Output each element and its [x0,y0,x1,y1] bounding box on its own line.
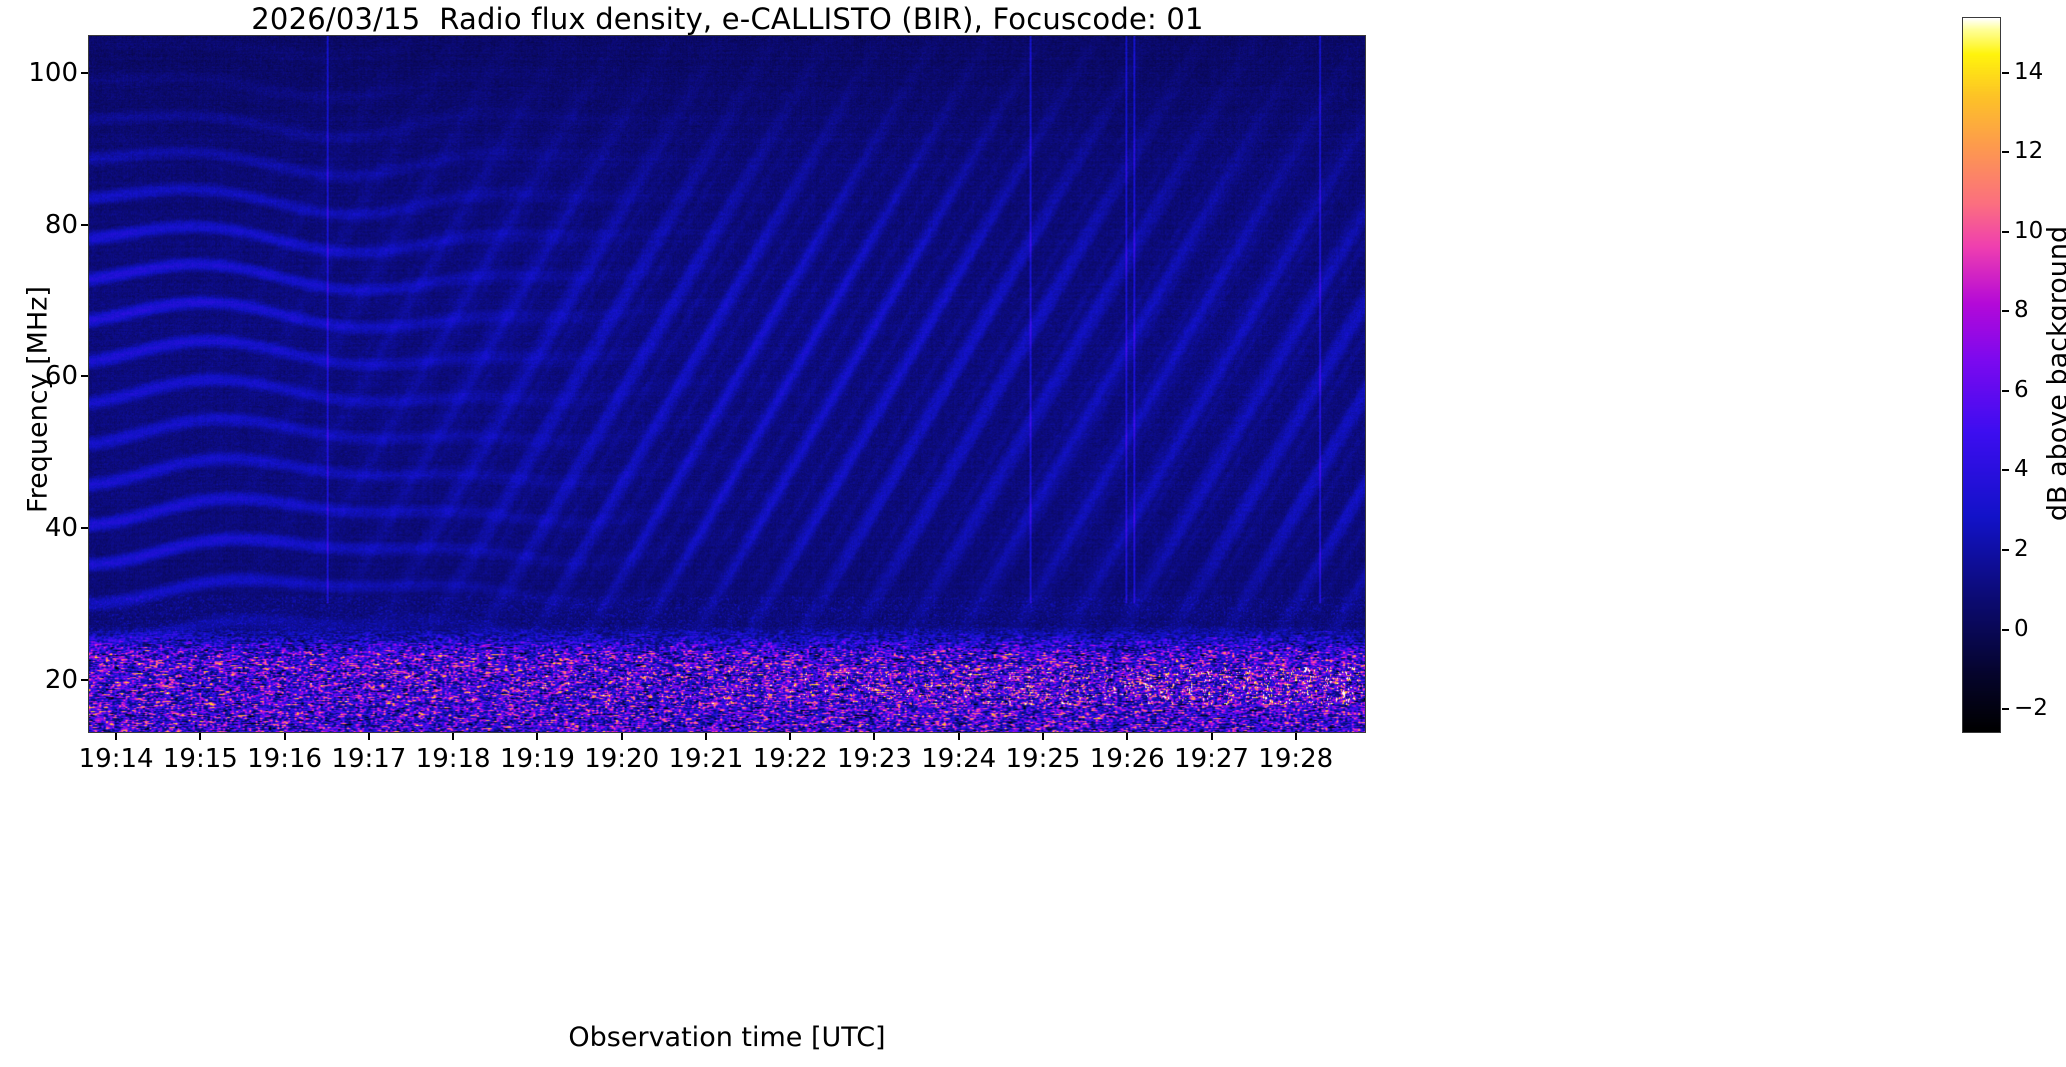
colorbar-label: dB above background [2043,16,2066,732]
colorbar-tick-mark [2002,151,2009,153]
spectrogram-figure: 2026/03/15 Radio flux density, e-CALLIST… [0,0,2066,1067]
x-tick-mark [705,733,707,740]
x-tick-mark [789,733,791,740]
y-tick-mark [81,72,88,74]
x-axis-label: Observation time [UTC] [88,1022,1366,1053]
x-tick-mark [1126,733,1128,740]
x-tick-mark [115,733,117,740]
colorbar-gradient [1963,18,2000,732]
colorbar-tick-mark [2002,231,2009,233]
y-tick-mark [81,527,88,529]
y-tick-label: 100 [16,60,78,86]
x-tick-label: 19:28 [1226,745,1366,773]
y-tick-mark [81,224,88,226]
x-tick-mark [536,733,538,740]
x-tick-mark [284,733,286,740]
x-tick-mark [1295,733,1297,740]
y-tick-mark [81,679,88,681]
colorbar-tick-mark [2002,549,2009,551]
colorbar-tick-mark [2002,310,2009,312]
colorbar-tick-mark [2002,390,2009,392]
x-tick-mark [1042,733,1044,740]
x-tick-mark [958,733,960,740]
colorbar-tick-mark [2002,72,2009,74]
colorbar[interactable] [1962,17,2001,733]
y-tick-label: 80 [16,212,78,238]
page-title: 2026/03/15 Radio flux density, e-CALLIST… [0,2,1455,36]
x-tick-mark [873,733,875,740]
x-tick-mark [621,733,623,740]
y-tick-label: 20 [16,667,78,693]
y-tick-label: 40 [16,515,78,541]
x-tick-mark [1211,733,1213,740]
colorbar-tick-mark [2002,469,2009,471]
y-tick-mark [81,375,88,377]
spectrogram-axes[interactable] [88,35,1366,733]
spectrogram-image [89,36,1365,732]
y-tick-label: 60 [16,363,78,389]
x-tick-mark [199,733,201,740]
x-tick-mark [452,733,454,740]
y-axis-label: Frequency [MHz] [23,50,54,750]
x-tick-mark [368,733,370,740]
colorbar-tick-mark [2002,708,2009,710]
colorbar-tick-mark [2002,629,2009,631]
